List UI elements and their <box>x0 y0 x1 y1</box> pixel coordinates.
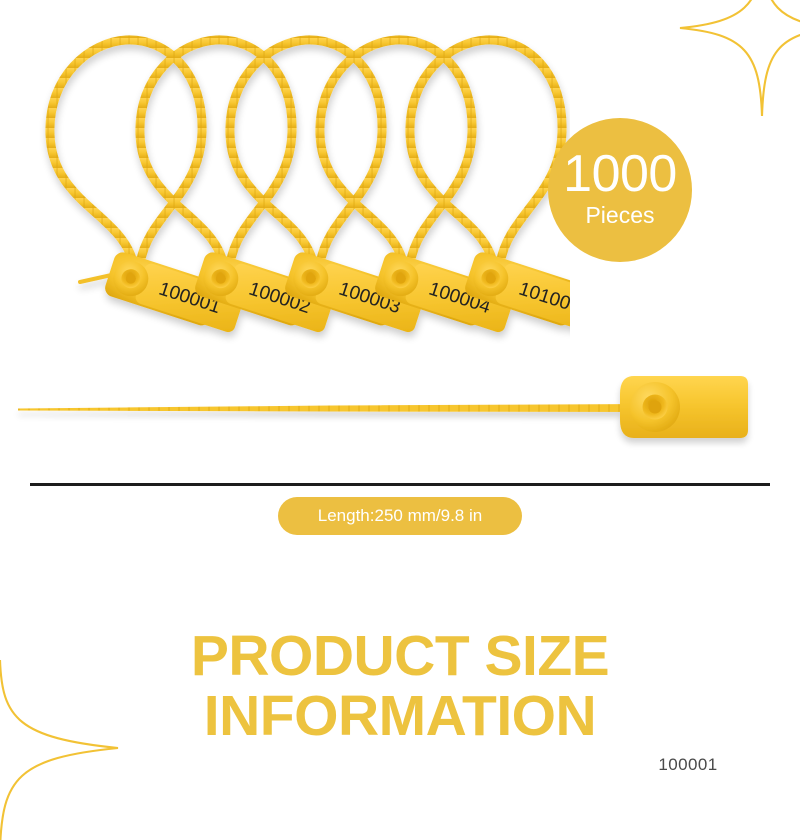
page-title-line-1: PRODUCT SIZE <box>0 626 800 686</box>
page-title: PRODUCT SIZE INFORMATION <box>0 626 800 747</box>
horizontal-seal-graphic <box>0 360 800 470</box>
quantity-badge: 1000 Pieces <box>548 118 692 262</box>
product-size-infographic: 100001 100002 <box>0 0 800 800</box>
length-label: Length:250 mm/9.8 in <box>278 497 522 535</box>
quantity-badge-count: 1000 <box>563 150 677 199</box>
page-title-line-2: INFORMATION <box>0 686 800 746</box>
quantity-badge-unit: Pieces <box>585 201 654 230</box>
seal-cluster-graphic: 100001 100002 <box>0 0 570 370</box>
horizontal-seal: 100001 <box>0 360 800 470</box>
sparkle-top-right-icon <box>662 0 800 116</box>
seal-cluster: 100001 100002 <box>0 0 570 370</box>
horizontal-seal-number: 100001 <box>658 755 717 775</box>
section-divider <box>30 483 770 486</box>
